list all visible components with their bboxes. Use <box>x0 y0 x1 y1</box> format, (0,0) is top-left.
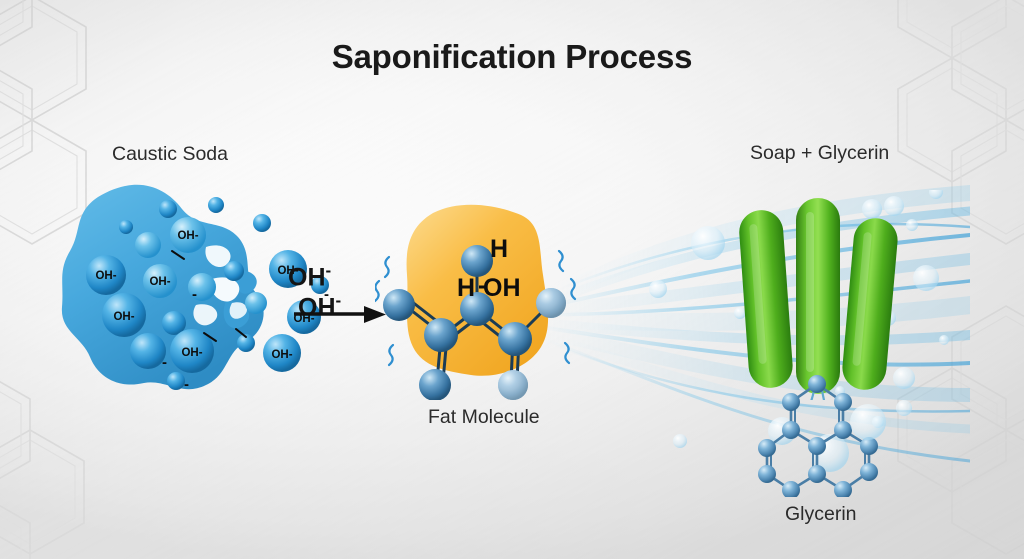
diagram-canvas: Saponification Process <box>0 0 1024 559</box>
svg-text:OH: OH <box>483 274 521 302</box>
process-arrow-icon <box>294 305 386 327</box>
svg-text:-: - <box>192 286 197 303</box>
svg-text:-: - <box>162 354 167 371</box>
soap-molecules-graphic <box>726 190 911 400</box>
label-glycerin: Glycerin <box>785 503 857 526</box>
svg-text:OH-: OH- <box>149 276 170 288</box>
svg-text:H: H <box>490 235 508 263</box>
reagent-label-1: OH- <box>288 262 341 290</box>
label-soap-glycerin: Soap + Glycerin <box>750 142 889 165</box>
page-title: Saponification Process <box>0 38 1024 76</box>
svg-text:OH-: OH- <box>113 311 134 323</box>
svg-text:OH-: OH- <box>177 230 198 242</box>
svg-text:OH-: OH- <box>271 349 292 361</box>
svg-text:H: H <box>457 274 475 302</box>
svg-text:OH-: OH- <box>95 270 116 282</box>
svg-text:OH-: OH- <box>181 347 202 359</box>
svg-text:-: - <box>184 376 189 393</box>
label-fat-molecule: Fat Molecule <box>428 406 540 429</box>
bubble-near-glycerin <box>846 398 916 468</box>
fat-molecule-graphic: H H OH <box>375 195 585 400</box>
label-caustic-soda: Caustic Soda <box>112 143 228 166</box>
charge-superscript-1: - <box>326 261 332 280</box>
